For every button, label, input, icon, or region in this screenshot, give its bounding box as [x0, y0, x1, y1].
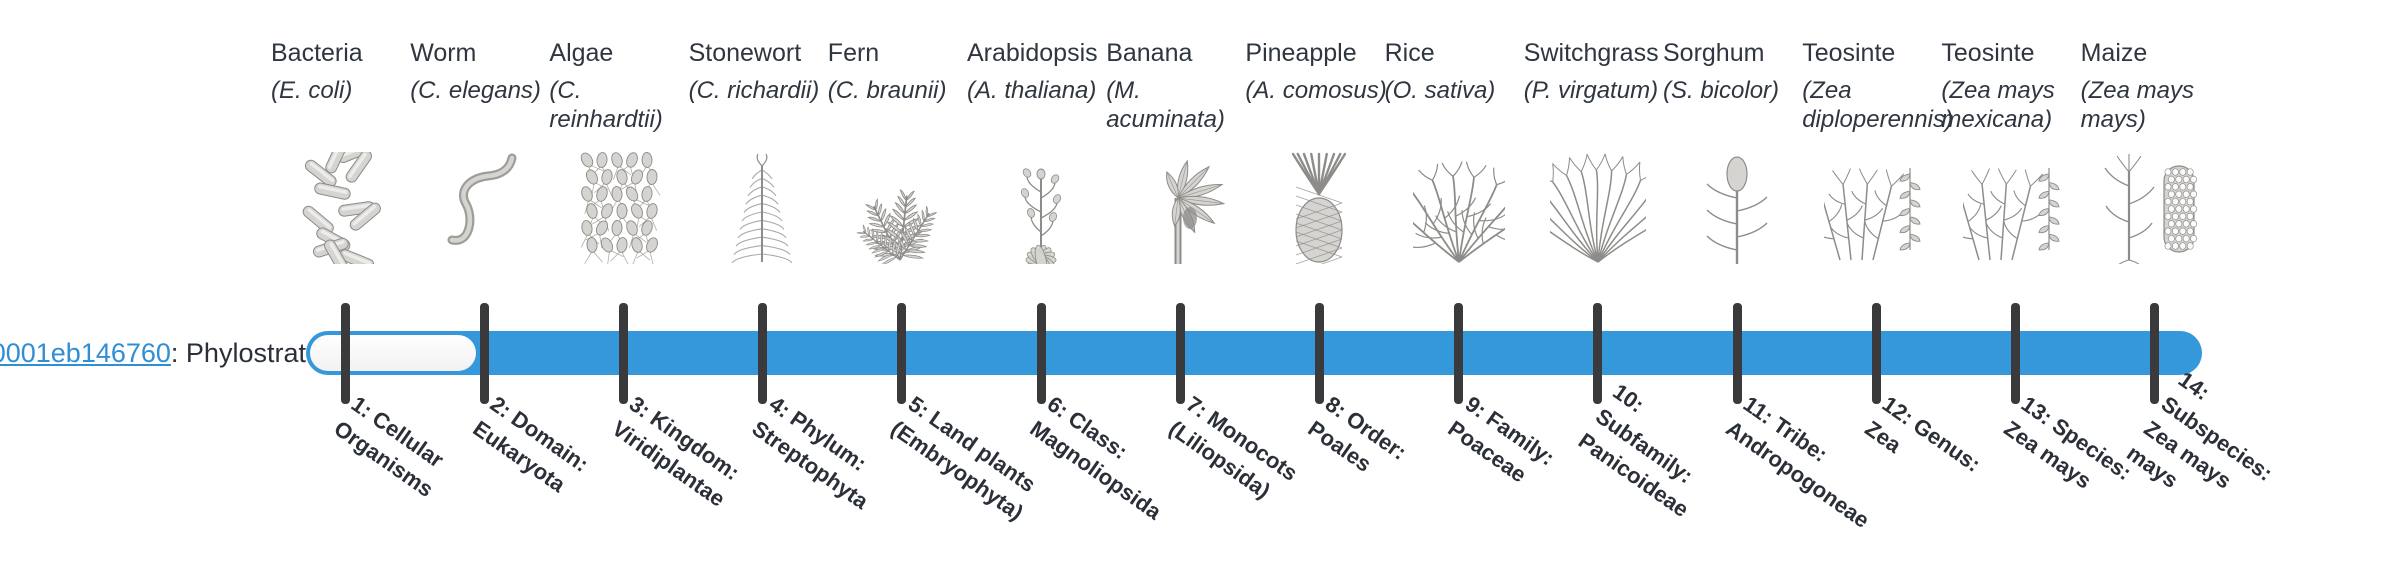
phylostratum-bar-fill — [306, 331, 2202, 375]
gene-id-link[interactable]: Zm00001eb146760 — [0, 338, 171, 368]
phylostratum-tick-8 — [1315, 303, 1324, 404]
species-scientific-name: (C. braunii) — [828, 76, 976, 105]
species-scientific-name: (C. richardii) — [689, 76, 837, 105]
species-header-1: Bacteria (E. coli) — [271, 38, 419, 148]
phylostratum-tick-3 — [619, 303, 628, 404]
phylostratum-tick-4 — [758, 303, 767, 404]
switchgrass-illustration — [1524, 152, 1672, 250]
phylostratum-label-7: 7: Monocots (Liliopsida) — [1106, 414, 1254, 580]
sorghum-illustration — [1663, 152, 1811, 250]
species-scientific-name: (C. elegans) — [410, 76, 558, 105]
phylostratum-tick-6 — [1037, 303, 1046, 404]
species-scientific-name: (E. coli) — [271, 76, 419, 105]
stonewort-illustration — [689, 152, 837, 250]
phylostratum-tick-14 — [2150, 303, 2159, 404]
phylostratum-name: Subspecies: Zea mays mays — [2122, 391, 2277, 494]
species-scientific-name: (O. sativa) — [1385, 76, 1533, 105]
phylostratum-bar — [306, 331, 2202, 375]
species-header-13: Teosinte (Zea mays mexicana) — [1941, 38, 2089, 148]
banana-illustration — [1106, 152, 1254, 250]
phylostratum-tick-10 — [1593, 303, 1602, 404]
phylostratum-bar-empty — [310, 335, 476, 371]
species-scientific-name: (P. virgatum) — [1524, 76, 1672, 105]
phylostratum-label-9: 9: Family: Poaceae — [1385, 414, 1533, 580]
phylostratum-label-1: 1: Cellular Organisms — [271, 414, 419, 580]
fern-illustration — [828, 152, 976, 250]
teosinte-illustration — [1941, 152, 2089, 250]
species-common-name: Rice — [1385, 38, 1533, 68]
species-common-name: Bacteria — [271, 38, 419, 68]
species-header-2: Worm (C. elegans) — [410, 38, 558, 148]
species-header-4: Stonewort (C. richardii) — [689, 38, 837, 148]
worm-illustration — [410, 152, 558, 250]
species-header-12: Teosinte (Zea diploperennis) — [1802, 38, 1950, 148]
species-scientific-name: (Zea mays mexicana) — [1941, 76, 2089, 134]
species-common-name: Sorghum — [1663, 38, 1811, 68]
phylostratum-tick-13 — [2011, 303, 2020, 404]
phylostratum-tick-7 — [1176, 303, 1185, 404]
species-common-name: Stonewort — [689, 38, 837, 68]
phylostratum-label-13: 13: Species: Zea mays — [1941, 414, 2089, 580]
species-common-name: Teosinte — [1941, 38, 2089, 68]
pineapple-illustration — [1245, 152, 1393, 250]
species-scientific-name: (M. acuminata) — [1106, 76, 1254, 134]
species-common-name: Algae — [549, 38, 697, 68]
species-common-name: Arabidopsis — [967, 38, 1115, 68]
species-scientific-name: (A. thaliana) — [967, 76, 1115, 105]
phylostratum-label-4: 4: Phylum: Streptophyta — [689, 414, 837, 580]
phylostratum-label-14: 14: Subspecies: Zea mays mays — [2081, 414, 2229, 580]
phylostratum-tick-12 — [1872, 303, 1881, 404]
phylostratum-tick-1 — [341, 303, 350, 404]
species-scientific-name: (Zea diploperennis) — [1802, 76, 1950, 134]
species-header-9: Rice (O. sativa) — [1385, 38, 1533, 148]
species-common-name: Pineapple — [1245, 38, 1393, 68]
species-common-name: Worm — [410, 38, 558, 68]
phylostratum-label-12: 12: Genus: Zea — [1802, 414, 1950, 580]
phylostratum-label-5: 5: Land plants (Embryophyta) — [828, 414, 976, 580]
species-header-10: Switchgrass (P. virgatum) — [1524, 38, 1672, 148]
species-common-name: Teosinte — [1802, 38, 1950, 68]
species-scientific-name: (A. comosus) — [1245, 76, 1393, 105]
species-common-name: Fern — [828, 38, 976, 68]
species-header-14: Maize (Zea mays mays) — [2081, 38, 2229, 148]
maize-illustration — [2081, 152, 2229, 250]
phylostratum-label-8: 8: Order: Poales — [1245, 414, 1393, 580]
phylostratum-label-10: 10: Subfamily: Panicoideae — [1524, 414, 1672, 580]
phylostratum-tick-9 — [1454, 303, 1463, 404]
phylostratum-tick-2 — [480, 303, 489, 404]
phylostratum-label-11: 11: Tribe: Andropogoneae — [1663, 414, 1811, 580]
phylostratum-tick-11 — [1733, 303, 1742, 404]
arabidopsis-illustration — [967, 152, 1115, 250]
rice-illustration — [1385, 152, 1533, 250]
species-header-5: Fern (C. braunii) — [828, 38, 976, 148]
species-scientific-name: (C. reinhardtii) — [549, 76, 697, 134]
species-scientific-name: (S. bicolor) — [1663, 76, 1811, 105]
species-header-7: Banana (M. acuminata) — [1106, 38, 1254, 148]
phylostratum-visualization: Zm00001eb146760: Phylostratum 2 Bacteria… — [0, 0, 2400, 580]
phylostratum-label-6: 6: Class: Magnoliopsida — [967, 414, 1115, 580]
phylostratum-label-3: 3: Kingdom: Viridiplantae — [549, 414, 697, 580]
species-common-name: Switchgrass — [1524, 38, 1672, 68]
algae-illustration — [549, 152, 697, 250]
species-header-11: Sorghum (S. bicolor) — [1663, 38, 1811, 148]
species-common-name: Banana — [1106, 38, 1254, 68]
phylostratum-tick-5 — [897, 303, 906, 404]
species-header-3: Algae (C. reinhardtii) — [549, 38, 697, 148]
species-scientific-name: (Zea mays mays) — [2081, 76, 2229, 134]
species-header-8: Pineapple (A. comosus) — [1245, 38, 1393, 148]
species-header-6: Arabidopsis (A. thaliana) — [967, 38, 1115, 148]
teosinte-illustration — [1802, 152, 1950, 250]
phylostratum-label-2: 2: Domain: Eukaryota — [410, 414, 558, 580]
bacteria-illustration — [271, 152, 419, 250]
species-common-name: Maize — [2081, 38, 2229, 68]
